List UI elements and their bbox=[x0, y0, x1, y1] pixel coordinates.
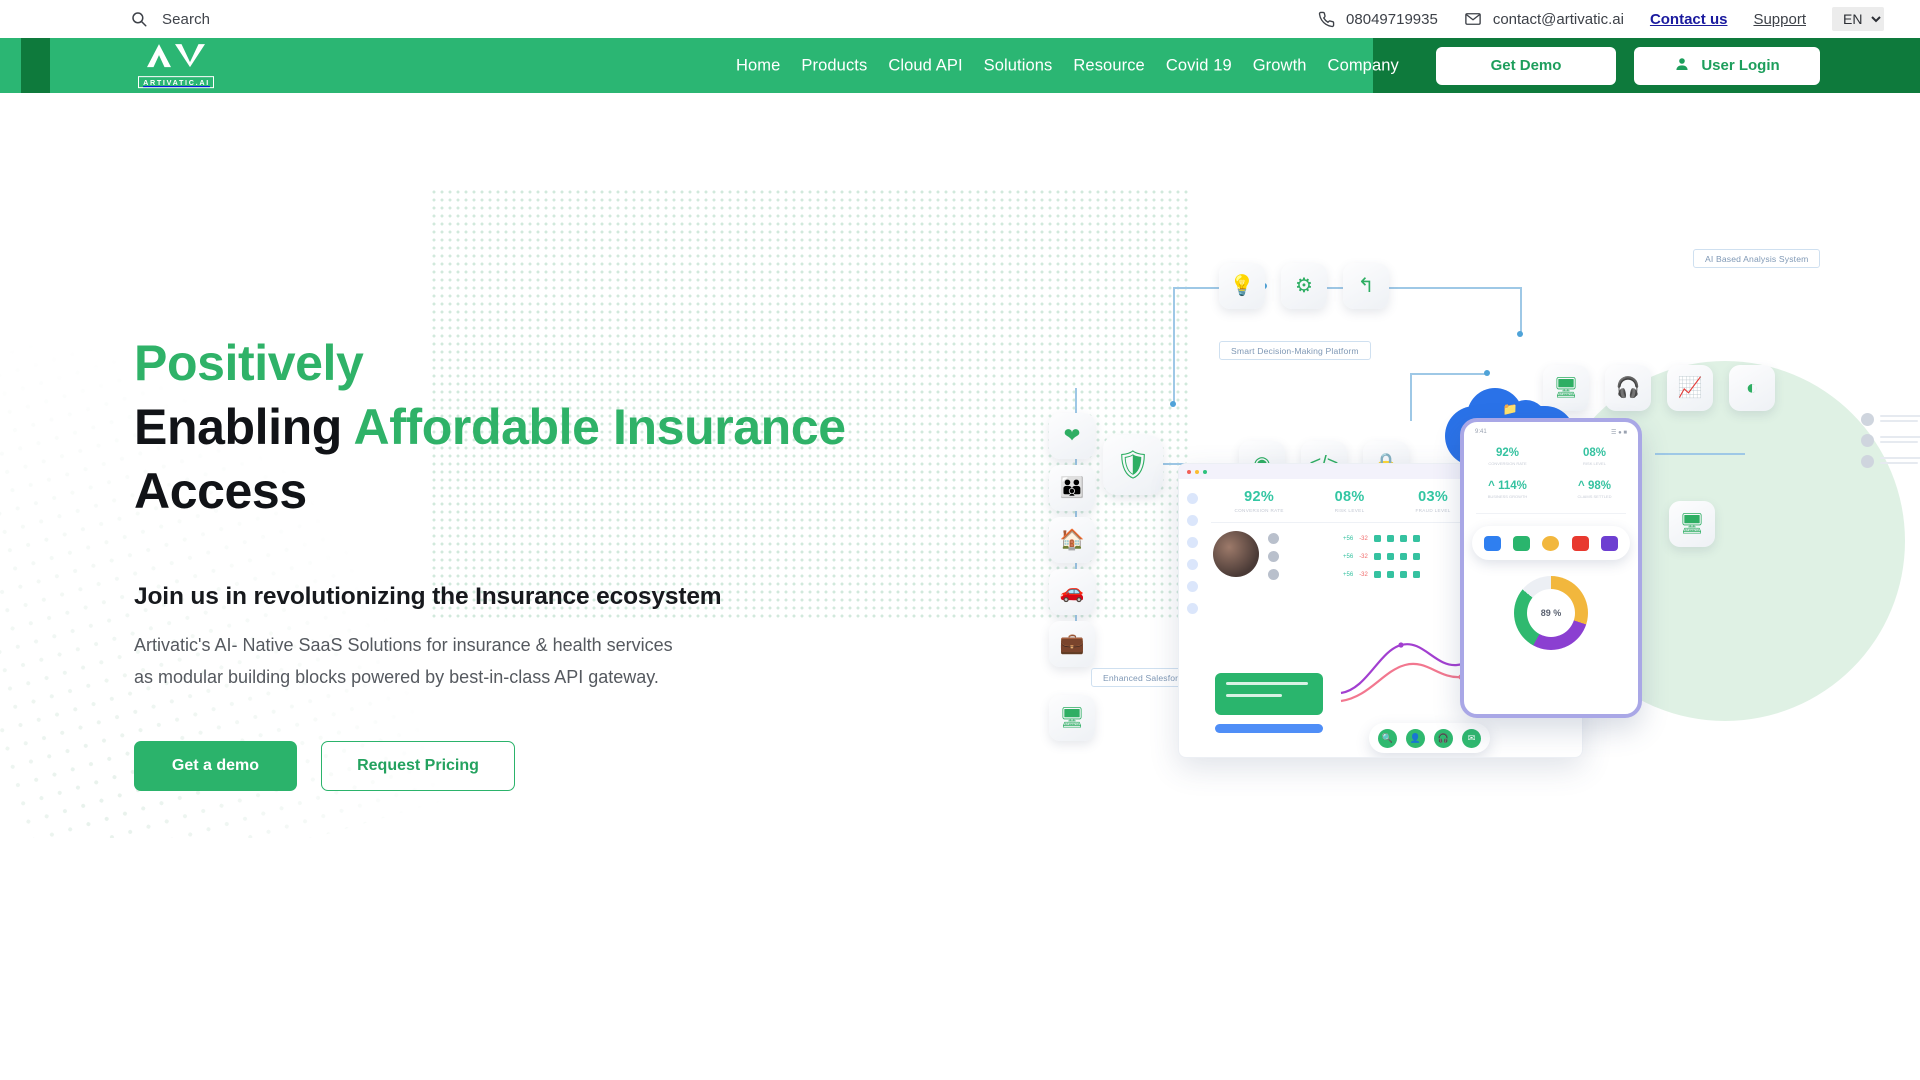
phone-status-bar: 9:41 ☰ ● ■ bbox=[1464, 422, 1638, 436]
headline-line-3: Access bbox=[134, 463, 307, 519]
phone-time: 9:41 bbox=[1475, 429, 1487, 436]
phone-icon bbox=[1318, 11, 1335, 28]
email-link[interactable]: contact@artivatic.ai bbox=[1464, 10, 1624, 28]
nav-item-company[interactable]: Company bbox=[1328, 56, 1399, 75]
user-icon bbox=[1674, 56, 1690, 76]
next-section: You are not just 1.5 Million + People po… bbox=[0, 838, 1920, 1073]
headline-line-1: Positively bbox=[134, 335, 363, 391]
language-selector[interactable]: EN bbox=[1832, 7, 1884, 31]
business-insurance-icon: 💼 bbox=[1049, 621, 1095, 667]
get-demo-label: Get Demo bbox=[1491, 57, 1562, 74]
idea-bulb-icon: 💡 bbox=[1219, 263, 1265, 309]
zoom-action-icon: 🔍 bbox=[1378, 729, 1397, 748]
user-action-icon: 👤 bbox=[1406, 729, 1425, 748]
dashboard-green-card bbox=[1215, 673, 1323, 715]
window-maximize-dot bbox=[1203, 470, 1207, 474]
chat-icon[interactable] bbox=[1542, 536, 1559, 551]
hero-copy: Positively Enabling Affordable Insurance… bbox=[134, 331, 904, 791]
nav-item-growth[interactable]: Growth bbox=[1253, 56, 1307, 75]
wire-node bbox=[1170, 401, 1176, 407]
dashboard-progress-bar bbox=[1215, 724, 1323, 733]
wire-node bbox=[1517, 331, 1523, 337]
email-address: contact@artivatic.ai bbox=[1493, 11, 1624, 28]
user-login-label: User Login bbox=[1701, 57, 1779, 74]
tag-smart-decision-platform: Smart Decision-Making Platform bbox=[1219, 341, 1371, 360]
hero-section: Positively Enabling Affordable Insurance… bbox=[0, 93, 1920, 838]
phone-side-list: ⋯ ⋯ ⋯ bbox=[1861, 413, 1920, 476]
kpi-conversion-rate: 92% CONVERSION RATE bbox=[1234, 489, 1283, 513]
video-call-icon[interactable] bbox=[1513, 536, 1530, 551]
search-area[interactable]: Search bbox=[130, 10, 210, 28]
motor-insurance-icon: 🚗 bbox=[1049, 569, 1095, 615]
dashboard-action-pill: 🔍 👤 🎧 ✉ bbox=[1369, 723, 1490, 753]
contact-us-link[interactable]: Contact us bbox=[1650, 11, 1728, 28]
window-minimize-dot bbox=[1195, 470, 1199, 474]
list-item: ⋯ bbox=[1861, 434, 1920, 447]
get-a-demo-button[interactable]: Get a demo bbox=[134, 741, 297, 791]
cloud-folder-icon: 📁 bbox=[1503, 402, 1518, 416]
list-item: ⋯ bbox=[1861, 413, 1920, 426]
hero-illustration: 💡 ⚙ ↰ 🛡 ◉ </> 🔒 🖥 🎧 📈 ◐ 🖥 ❤ 👪 🏠 🚗 💼 🖥 Sm… bbox=[1115, 213, 1920, 838]
nav-item-cloud-api[interactable]: Cloud API bbox=[888, 56, 962, 75]
phone-status-icons: ☰ ● ■ bbox=[1611, 429, 1627, 436]
utility-bar: Search 08049719935 contact@artivatic.ai … bbox=[0, 0, 1920, 38]
dashboard-sidebar bbox=[1179, 479, 1205, 757]
get-demo-button[interactable]: Get Demo bbox=[1436, 47, 1616, 85]
home-insurance-icon: 🏠 bbox=[1049, 517, 1095, 563]
nav-cta-group: Get Demo User Login bbox=[1436, 47, 1820, 85]
wire bbox=[1520, 287, 1522, 335]
phone-mockup: 9:41 ☰ ● ■ 92% CONVERSION RATE 08% RISK … bbox=[1460, 418, 1642, 718]
phone-dock bbox=[1472, 526, 1630, 560]
server-secondary-icon: 🖥 bbox=[1669, 501, 1715, 547]
phone-link[interactable]: 08049719935 bbox=[1318, 11, 1438, 28]
search-icon[interactable] bbox=[130, 10, 148, 28]
nav-item-resource[interactable]: Resource bbox=[1073, 56, 1144, 75]
share-network-icon: ↰ bbox=[1343, 263, 1389, 309]
calendar-icon[interactable] bbox=[1572, 536, 1589, 551]
kpi-risk-level: 08% RISK LEVEL bbox=[1335, 489, 1365, 513]
life-insurance-icon: 👪 bbox=[1049, 465, 1095, 511]
phone-call-icon[interactable] bbox=[1484, 536, 1501, 551]
nav-item-products[interactable]: Products bbox=[801, 56, 867, 75]
main-navigation: ARTIVATIC.AI Home Products Cloud API Sol… bbox=[0, 38, 1920, 93]
phone-number: 08049719935 bbox=[1346, 11, 1438, 28]
nav-menu: Home Products Cloud API Solutions Resour… bbox=[736, 56, 1399, 75]
wire bbox=[1410, 373, 1488, 375]
headline-line-2-black: Enabling bbox=[134, 399, 354, 455]
request-pricing-button[interactable]: Request Pricing bbox=[321, 741, 515, 791]
pie-chart-icon: ◐ bbox=[1729, 365, 1775, 411]
site-logo[interactable]: ARTIVATIC.AI bbox=[137, 43, 215, 89]
nav-item-solutions[interactable]: Solutions bbox=[984, 56, 1053, 75]
support-action-icon: 🎧 bbox=[1434, 729, 1453, 748]
headset-support-icon: 🎧 bbox=[1605, 365, 1651, 411]
headline-line-2-green: Affordable Insurance bbox=[354, 399, 846, 455]
wire-node bbox=[1484, 370, 1490, 376]
hero-subheading: Join us in revolutionizing the Insurance… bbox=[134, 583, 904, 611]
window-close-dot bbox=[1187, 470, 1191, 474]
logo-mark-icon bbox=[145, 43, 207, 73]
wire bbox=[1173, 287, 1175, 405]
tag-ai-based-analysis-system: AI Based Analysis System bbox=[1693, 249, 1820, 268]
search-input[interactable]: Search bbox=[162, 11, 210, 28]
mail-icon bbox=[1464, 10, 1482, 28]
chart-board-icon: 📈 bbox=[1667, 365, 1713, 411]
phone-kpi-risk: 08% RISK LEVEL bbox=[1551, 447, 1638, 466]
phone-kpi-growth: ^ 114% BUSINESS GROWTH bbox=[1464, 480, 1551, 499]
page-title: Positively Enabling Affordable Insurance… bbox=[134, 331, 904, 523]
list-item: ⋯ bbox=[1861, 455, 1920, 468]
chip-processor-icon: ⚙ bbox=[1281, 263, 1327, 309]
nav-item-covid-19[interactable]: Covid 19 bbox=[1166, 56, 1232, 75]
phone-kpi-conversion: 92% CONVERSION RATE bbox=[1464, 447, 1551, 466]
server-bottom-icon: 🖥 bbox=[1049, 695, 1095, 741]
wire bbox=[1655, 453, 1745, 455]
phone-kpi-claims: ^ 98% CLAIMS SETTLED bbox=[1551, 480, 1638, 499]
notes-icon[interactable] bbox=[1601, 536, 1618, 551]
logo-wordmark: ARTIVATIC.AI bbox=[138, 76, 214, 89]
user-login-button[interactable]: User Login bbox=[1634, 47, 1820, 85]
kpi-fraud-level: 03% FRAUD LEVEL bbox=[1415, 489, 1450, 513]
support-link[interactable]: Support bbox=[1753, 11, 1806, 28]
shield-check-icon: 🛡 bbox=[1103, 435, 1163, 495]
message-action-icon: ✉ bbox=[1462, 729, 1481, 748]
avatar bbox=[1213, 531, 1259, 577]
hero-paragraph: Artivatic's AI- Native SaaS Solutions fo… bbox=[134, 629, 694, 693]
health-insurance-icon: ❤ bbox=[1049, 413, 1095, 459]
hero-cta-group: Get a demo Request Pricing bbox=[134, 741, 904, 791]
wire bbox=[1410, 373, 1412, 421]
nav-item-home[interactable]: Home bbox=[736, 56, 780, 75]
completion-donut-chart: 89 % bbox=[1514, 576, 1588, 650]
utility-links: 08049719935 contact@artivatic.ai Contact… bbox=[1318, 7, 1884, 31]
